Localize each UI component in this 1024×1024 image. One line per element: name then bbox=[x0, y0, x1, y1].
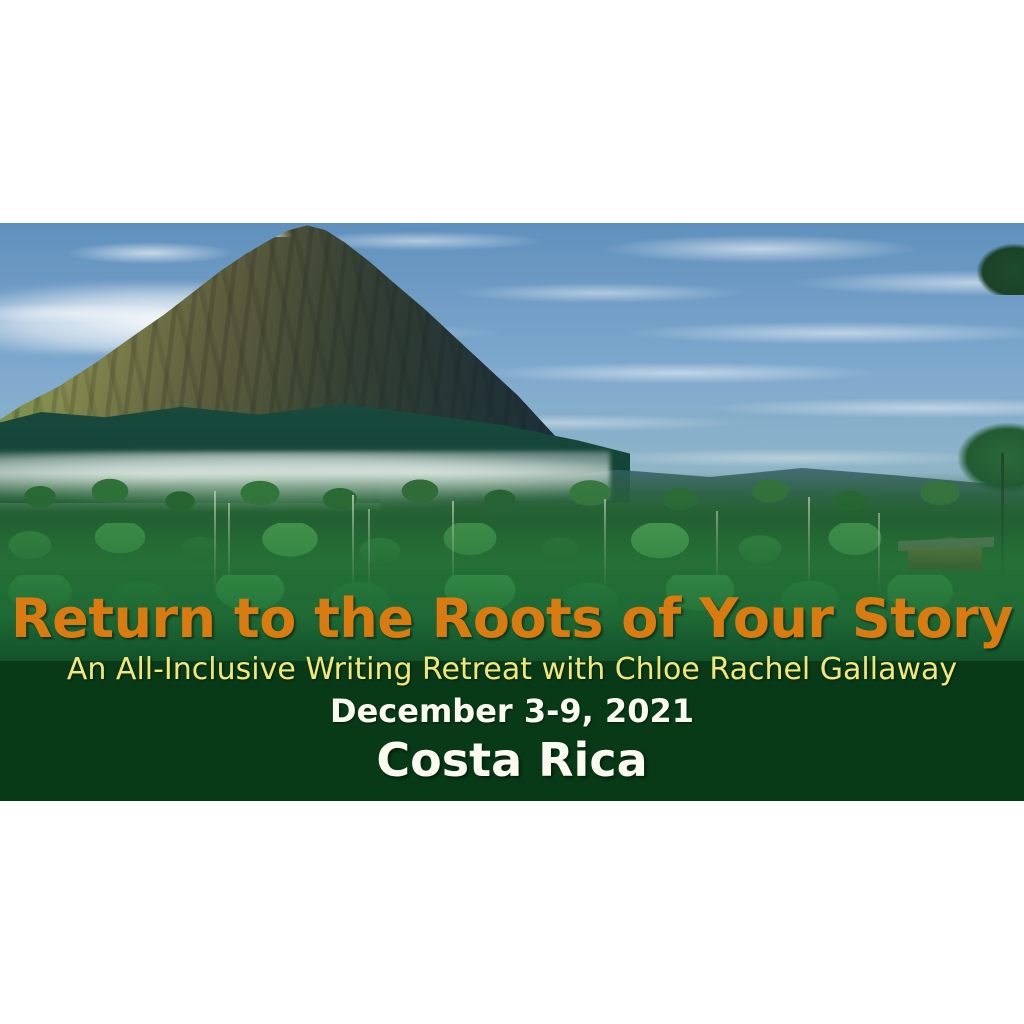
tree-crown-upper bbox=[976, 243, 1024, 295]
banner-location: Costa Rica bbox=[0, 732, 1024, 788]
banner-subheadline: An All-Inclusive Writing Retreat with Ch… bbox=[0, 650, 1024, 690]
page-root: Return to the Roots of Your Story An All… bbox=[0, 0, 1024, 1024]
banner-text-block: Return to the Roots of Your Story An All… bbox=[0, 588, 1024, 788]
banner-dateline: December 3-9, 2021 bbox=[0, 690, 1024, 732]
retreat-promo-banner: Return to the Roots of Your Story An All… bbox=[0, 223, 1024, 801]
banner-headline: Return to the Roots of Your Story bbox=[0, 588, 1024, 650]
